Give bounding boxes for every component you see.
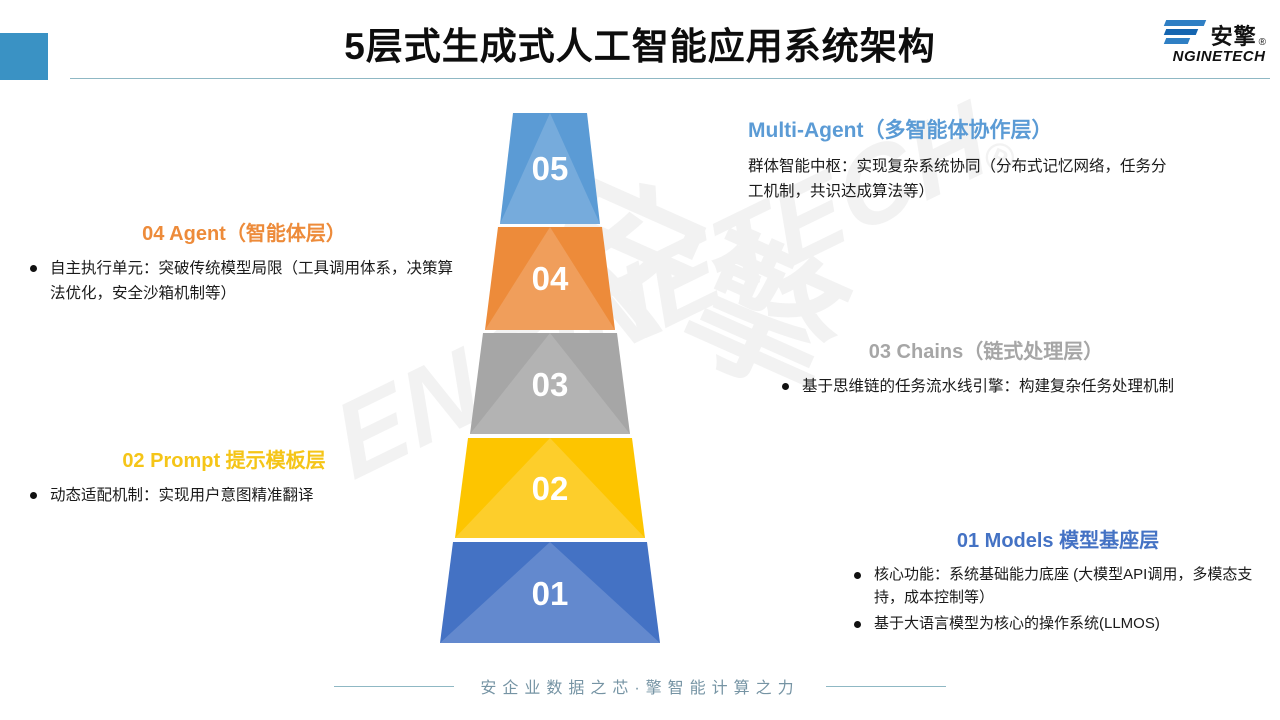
footer-slogan: 安企业数据之芯·擎智能计算之力 [480, 674, 799, 698]
pyramid-level-05[interactable]: 05 [500, 113, 600, 224]
footer-left-rule [334, 686, 454, 687]
pyramid-level-01-number: 01 [532, 575, 569, 612]
brand-logo: 安擎 ® NGINETECH [1165, 18, 1266, 64]
logo-cn-text: 安擎 [1211, 26, 1257, 48]
list-item: 动态适配机制：实现用户意图精准翻译 [24, 483, 424, 508]
footer-right-rule [826, 686, 946, 687]
level-04-bullet-list: 自主执行单元：突破传统模型局限（工具调用体系，决策算法优化，安全沙箱机制等） [24, 256, 464, 306]
level-03-title: 03 Chains（链式处理层） [776, 335, 1196, 364]
level-02-text-block: 02 Prompt 提示模板层 动态适配机制：实现用户意图精准翻译 [24, 444, 424, 510]
pyramid-level-02-number: 02 [532, 470, 569, 507]
footer: 安企业数据之芯·擎智能计算之力 [0, 674, 1280, 698]
level-03-bullet-list: 基于思维链的任务流水线引擎：构建复杂任务处理机制 [776, 374, 1196, 399]
level-05-body: 群体智能中枢：实现复杂系统协同（分布式记忆网络，任务分工机制，共识达成算法等） [748, 154, 1168, 204]
pyramid-level-04[interactable]: 04 [485, 227, 615, 330]
page-title: 5层式生成式人工智能应用系统架构 [0, 16, 1280, 70]
engine-e-mark-icon [1165, 18, 1207, 48]
logo-en-text: NGINETECH [1173, 49, 1266, 64]
level-02-title: 02 Prompt 提示模板层 [24, 444, 424, 473]
list-item: 核心功能：系统基础能力底座 (大模型API调用，多模态支持，成本控制等） [848, 563, 1268, 610]
list-item: 基于思维链的任务流水线引擎：构建复杂任务处理机制 [776, 374, 1196, 399]
level-02-bullet-list: 动态适配机制：实现用户意图精准翻译 [24, 483, 424, 508]
level-04-title: 04 Agent（智能体层） [24, 217, 464, 246]
level-04-text-block: 04 Agent（智能体层） 自主执行单元：突破传统模型局限（工具调用体系，决策… [24, 217, 464, 308]
pyramid-level-02[interactable]: 02 [455, 438, 645, 538]
logo-top-row: 安擎 ® [1165, 18, 1266, 48]
pyramid-level-04-number: 04 [532, 260, 569, 297]
level-03-text-block: 03 Chains（链式处理层） 基于思维链的任务流水线引擎：构建复杂任务处理机… [776, 335, 1196, 401]
pyramid-level-05-number: 05 [532, 150, 569, 187]
registered-trademark-icon: ® [1259, 38, 1266, 48]
list-item: 自主执行单元：突破传统模型局限（工具调用体系，决策算法优化，安全沙箱机制等） [24, 256, 464, 306]
level-01-title: 01 Models 模型基座层 [848, 524, 1268, 553]
level-01-bullet-list: 核心功能：系统基础能力底座 (大模型API调用，多模态支持，成本控制等） 基于大… [848, 563, 1268, 635]
level-01-text-block: 01 Models 模型基座层 核心功能：系统基础能力底座 (大模型API调用，… [848, 524, 1268, 637]
pyramid-level-01[interactable]: 01 [440, 542, 660, 643]
pyramid-level-03-number: 03 [532, 366, 569, 403]
slide-canvas: 安擎 ® ENGINETECH 5层式生成式人工智能应用系统架构 安擎 ® NG… [0, 0, 1280, 720]
pyramid-level-03[interactable]: 03 [470, 333, 630, 434]
list-item: 基于大语言模型为核心的操作系统(LLMOS) [848, 612, 1268, 635]
level-05-title: Multi-Agent（多智能体协作层） [748, 114, 1168, 144]
level-05-text-block: Multi-Agent（多智能体协作层） 群体智能中枢：实现复杂系统协同（分布式… [748, 114, 1168, 204]
header-divider [70, 78, 1270, 79]
